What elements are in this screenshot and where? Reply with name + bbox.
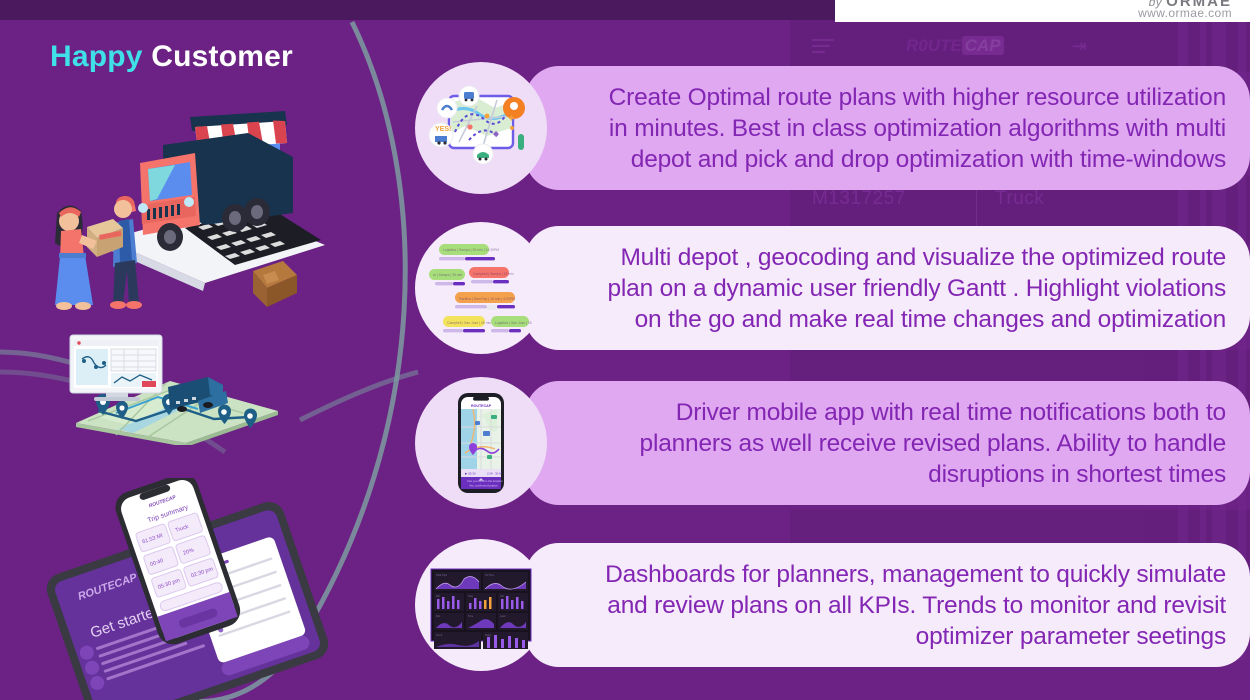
svg-text:Can you confirm the location: Can you confirm the location xyxy=(467,479,503,483)
svg-text:Total Trips: Total Trips xyxy=(436,574,448,577)
svg-text:Trend: Trend xyxy=(436,634,443,637)
svg-text:2 MI: 2 MI xyxy=(487,472,493,476)
svg-text:KPI: KPI xyxy=(436,595,440,598)
svg-text:Time: Time xyxy=(468,615,474,618)
tablet-phone-mockup-illustration: ROUTECAP Get started xyxy=(28,478,328,700)
card-gantt-visualization-icon-bubble: Logistics | Sampa | 30 min | 14:30PM m |… xyxy=(415,222,547,354)
card-route-optimization[interactable]: Create Optimal route plans with higher r… xyxy=(525,66,1250,190)
route-map-icon: YES! xyxy=(425,72,537,184)
dashboard-charts-icon: Total TripsOn Time KPICostUtil DistTimeL… xyxy=(425,549,537,661)
page-title-part2: Customer xyxy=(151,40,293,73)
svg-text:Util: Util xyxy=(500,595,504,598)
svg-text:▶ 05:30: ▶ 05:30 xyxy=(465,472,476,476)
page-title: Happy Customer xyxy=(50,40,293,74)
delivery-truck-laptop-illustration xyxy=(35,85,325,310)
svg-text:30 M: 30 M xyxy=(495,472,502,476)
svg-text:Yes, confirmed location: Yes, confirmed location xyxy=(469,484,498,488)
brand-website: www.ormae.com xyxy=(1138,7,1232,20)
svg-text:YES!: YES! xyxy=(435,126,451,133)
svg-text:Load: Load xyxy=(500,615,506,618)
card-gantt-visualization-text: Multi depot , geocoding and visualize th… xyxy=(525,228,1250,349)
svg-text:ROUTECAP: ROUTECAP xyxy=(471,404,492,408)
card-route-optimization-icon-bubble: YES! xyxy=(415,62,547,194)
gantt-chart-icon: Logistics | Sampa | 30 min | 14:30PM m |… xyxy=(425,232,537,344)
svg-text:Dist: Dist xyxy=(436,615,440,618)
svg-text:Logistics | San Jose | 25: Logistics | San Jose | 25 xyxy=(495,321,532,325)
slide-canvas: R0UTECAP ⇥ M1317257 Truck by ORMAE www.o… xyxy=(0,0,1250,700)
page-title-part1: Happy xyxy=(50,40,143,73)
card-dashboards-kpi[interactable]: Dashboards for planners, management to q… xyxy=(525,543,1250,667)
brand-logo-box: by ORMAE www.ormae.com xyxy=(835,0,1250,22)
svg-text:m | Sampa | 35 min: m | Sampa | 35 min xyxy=(433,273,462,277)
card-gantt-visualization[interactable]: Multi depot , geocoding and visualize th… xyxy=(525,226,1250,350)
svg-text:Logistics | Sampa | 30 min | 1: Logistics | Sampa | 30 min | 14:30PM xyxy=(443,248,499,252)
svg-text:On Time: On Time xyxy=(485,574,495,577)
card-route-optimization-text: Create Optimal route plans with higher r… xyxy=(525,68,1250,189)
mobile-phone-map-icon: ROUTECAP xyxy=(425,387,537,499)
svg-text:Cost: Cost xyxy=(468,595,473,598)
card-dashboards-kpi-text: Dashboards for planners, management to q… xyxy=(525,545,1250,666)
card-driver-mobile-app-text: Driver mobile app with real time notific… xyxy=(525,383,1250,504)
svg-text:Stops: Stops xyxy=(485,634,492,637)
route-planning-map-illustration xyxy=(58,325,293,445)
svg-text:Campbell | San Jose | 45 min: Campbell | San Jose | 45 min xyxy=(447,321,491,325)
svg-text:Campbell | Sampa | 15 min: Campbell | Sampa | 15 min xyxy=(473,272,514,276)
card-driver-mobile-app-icon-bubble: ROUTECAP xyxy=(415,377,547,509)
card-dashboards-kpi-icon-bubble: Total TripsOn Time KPICostUtil DistTimeL… xyxy=(415,539,547,671)
svg-text:Pacifica | Sam Fep | 15 min |: Pacifica | Sam Fep | 15 min | 4:30PM xyxy=(459,297,515,301)
card-driver-mobile-app[interactable]: Driver mobile app with real time notific… xyxy=(525,381,1250,505)
